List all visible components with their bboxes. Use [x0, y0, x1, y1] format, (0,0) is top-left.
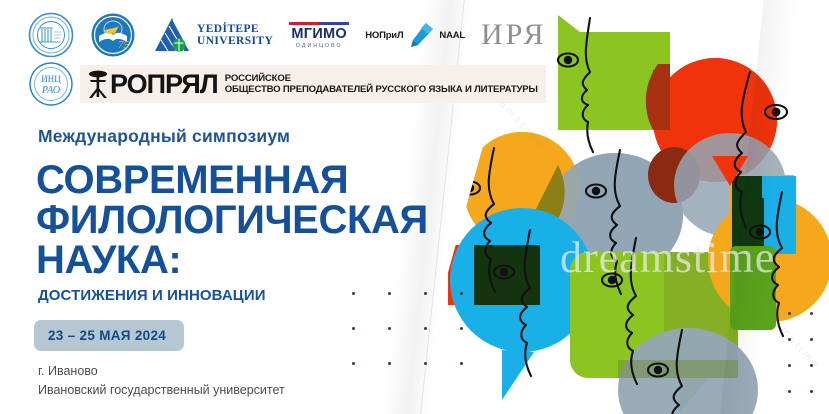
partner-logos-row-1: 75 YEDİTEPE UNIVERSITY МГИМО [28, 10, 546, 60]
ropryal-figure-icon [86, 69, 110, 99]
rao-label: РАО [41, 85, 60, 96]
anniversary-75-seal-icon: 75 [90, 12, 136, 58]
title-line-1: СОВРЕМЕННАЯ [36, 160, 428, 200]
mgimo-logo: МГИМО ОДИНЦОВО [289, 22, 349, 49]
inc-label: ИНЦ [41, 74, 61, 84]
event-kicker: Международный симпозиум [38, 126, 290, 147]
title-line-3: НАУКА: [36, 240, 428, 280]
yeditepe-label: YEDİTEPE UNIVERSITY [197, 23, 273, 48]
title-line-2: ФИЛОЛОГИЧЕСКАЯ [36, 200, 428, 240]
naal-label: NAAL [439, 30, 465, 41]
yeditepe-university-logo: YEDİTEPE UNIVERSITY [152, 15, 273, 55]
symposium-poster: dreamstime dreamstime dreamstime [0, 0, 829, 414]
ropryal-logo-band: РОПРЯЛ РОССИЙСКОЕ ОБЩЕСТВО ПРЕПОДАВАТЕЛЕ… [80, 65, 546, 103]
grid-dot [424, 327, 427, 330]
nopril-label: НОПриЛ [365, 30, 403, 41]
ropryal-name: РОПРЯЛ [110, 70, 218, 98]
page-subtitle: ДОСТИЖЕНИЯ И ИННОВАЦИИ [38, 287, 266, 304]
venue-institution: Ивановский государственный университет [38, 381, 285, 400]
mgimo-name: МГИМО [289, 27, 349, 42]
mgimo-campus: ОДИНЦОВО [289, 43, 349, 49]
yeditepe-pyramid-icon [152, 15, 192, 55]
date-badge: 23 – 25 МАЯ 2024 [34, 320, 184, 351]
venue-city: г. Иваново [38, 362, 285, 381]
grid-dot [388, 292, 391, 295]
grid-dot [388, 327, 391, 330]
inc-rao-seal-icon: ИНЦ РАО [28, 61, 74, 107]
page-title: СОВРЕМЕННАЯ ФИЛОЛОГИЧЕСКАЯ НАУКА: [36, 160, 428, 280]
partner-logos-row-2: ИНЦ РАО РОПРЯЛ РОССИЙСКОЕ ОБЩЕСТВО ПРЕПО… [28, 62, 546, 106]
ropryal-fullname: РОССИЙСКОЕ ОБЩЕСТВО ПРЕПОДАВАТЕЛЕЙ РУССК… [225, 73, 538, 96]
nopril-pen-icon [406, 21, 436, 49]
irya-institute-logo: ИРЯ [481, 20, 546, 50]
irya-label: ИРЯ [481, 18, 546, 51]
grid-dot [352, 292, 355, 295]
grid-dot [388, 362, 391, 365]
nopril-naal-logo: НОПриЛ NAAL [365, 21, 465, 49]
svg-text:75: 75 [118, 39, 130, 51]
venue-block: г. Иваново Ивановский государственный ун… [38, 362, 285, 400]
grid-dot [424, 292, 427, 295]
grid-dot [352, 327, 355, 330]
mgimo-flag-icon [289, 22, 349, 25]
ivanovo-state-university-seal-icon [28, 12, 74, 58]
grid-dot [352, 362, 355, 365]
